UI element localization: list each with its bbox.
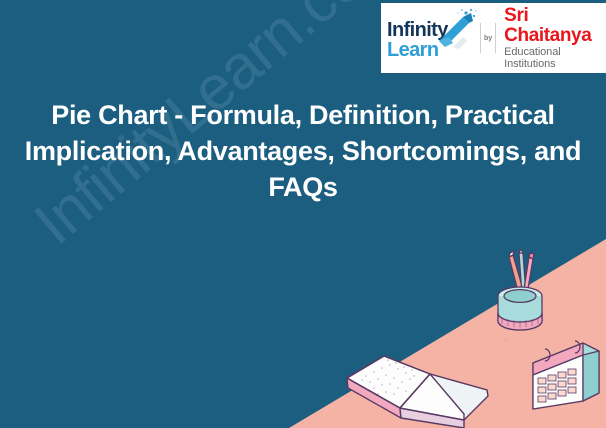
rocket-arrow-icon (433, 7, 479, 53)
sri-chaitanya-subtitle: Educational Institutions (504, 46, 606, 70)
page-title: Pie Chart - Formula, Definition, Practic… (0, 98, 606, 206)
logo-divider-group: by (477, 23, 499, 53)
banner-canvas: InfinityLearn.com Infinity Learn (0, 0, 606, 428)
sri-chaitanya-name: Sri Chaitanya (504, 6, 606, 46)
infinity-learn-logo: Infinity Learn (381, 3, 477, 73)
divider-line-left (480, 23, 481, 53)
divider-line-right (495, 23, 496, 53)
sri-chaitanya-logo: Sri Chaitanya Educational Institutions (499, 6, 606, 70)
by-label: by (484, 35, 492, 42)
logo-lockup: Infinity Learn by Sri Chaitanya (381, 3, 606, 73)
desk-calendar-icon (527, 339, 606, 423)
open-book-icon (344, 334, 494, 428)
